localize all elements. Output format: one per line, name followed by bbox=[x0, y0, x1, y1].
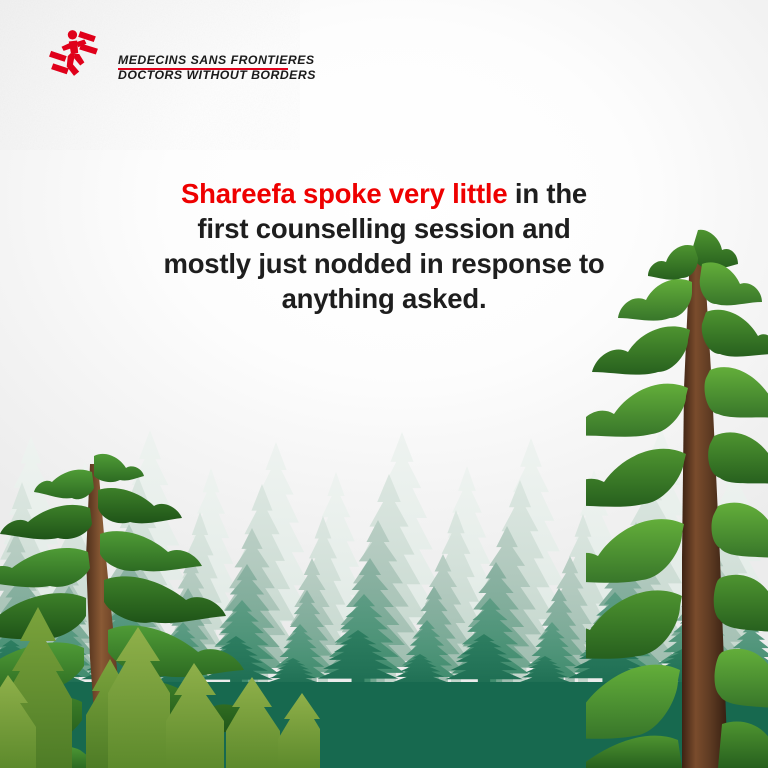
msf-logo-rule bbox=[118, 68, 288, 70]
msf-logo-line-en: DOCTORS WITHOUT BORDERS bbox=[118, 68, 296, 83]
forest-illustration bbox=[0, 428, 768, 768]
bottom-left-shrubs bbox=[0, 603, 320, 768]
msf-logo: MEDECINS SANS FRONTIERES DOCTORS WITHOUT… bbox=[48, 28, 288, 96]
headline-text: Shareefa spoke very little in the first … bbox=[154, 176, 614, 316]
poster-canvas: MEDECINS SANS FRONTIERES DOCTORS WITHOUT… bbox=[0, 0, 768, 768]
msf-running-figure-icon bbox=[48, 28, 100, 80]
msf-logo-line-fr: MEDECINS SANS FRONTIERES bbox=[118, 53, 296, 68]
headline-highlight: Shareefa spoke very little bbox=[181, 178, 508, 209]
